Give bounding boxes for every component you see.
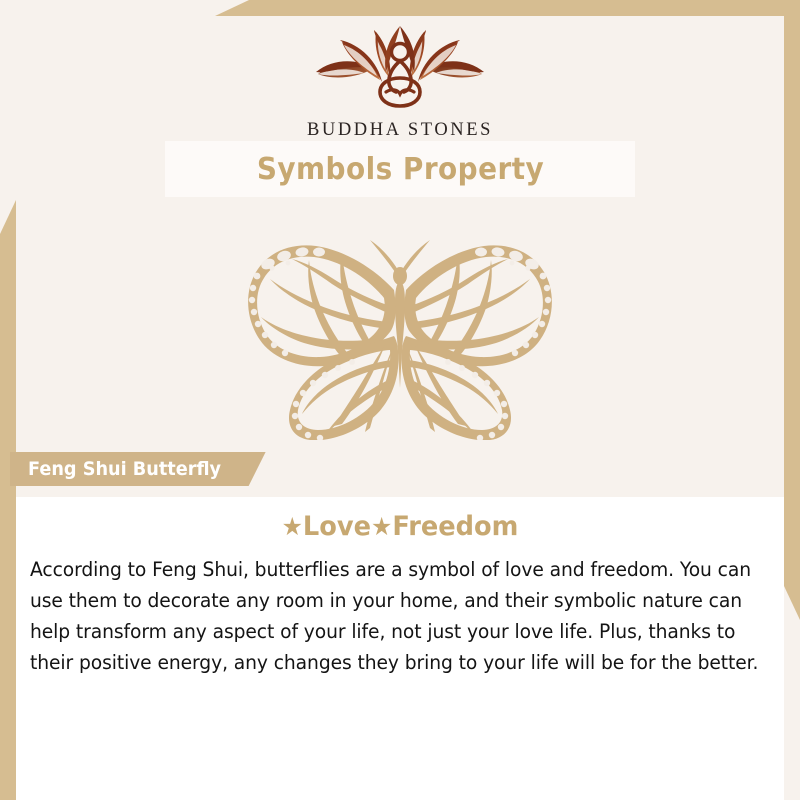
title-banner: Symbols Property xyxy=(165,141,635,197)
star-icon-middle: ★ xyxy=(371,512,392,541)
content-paragraph: According to Feng Shui, butterflies are … xyxy=(30,554,763,678)
feng-shui-butterfly-badge: Feng Shui Butterfly xyxy=(10,452,266,486)
subheading-word-freedom: Freedom xyxy=(392,511,518,542)
lotus-meditation-figure-icon xyxy=(302,22,498,118)
badge-label: Feng Shui Butterfly xyxy=(28,458,221,480)
brand-name: BUDDHA STONES xyxy=(0,120,800,141)
butterfly-icon xyxy=(224,228,576,440)
subheading-word-love: Love xyxy=(303,511,371,542)
page-title: Symbols Property xyxy=(256,152,543,187)
butterfly-illustration xyxy=(0,228,800,445)
promo-page: BUDDHA STONES Symbols Property xyxy=(0,0,800,800)
decor-band-top xyxy=(215,0,800,16)
content-panel: ★Love★Freedom According to Feng Shui, bu… xyxy=(16,497,784,800)
brand-logo: BUDDHA STONES xyxy=(0,22,800,141)
content-subheading: ★Love★Freedom xyxy=(35,511,765,542)
star-icon-left: ★ xyxy=(282,512,303,541)
